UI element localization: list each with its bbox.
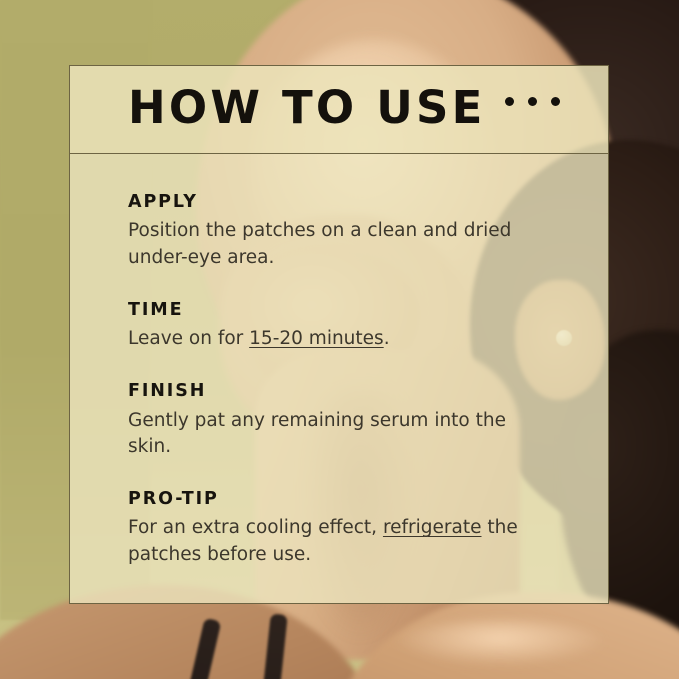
section-heading-finish: FINISH — [128, 382, 552, 401]
dot-3 — [551, 97, 560, 106]
page-title: HOW TO USE — [128, 85, 486, 130]
product-instructions-graphic: HOW TO USE APPLY Position the patches on… — [0, 0, 679, 679]
time-text-before: Leave on for — [128, 328, 249, 349]
section-heading-apply: APPLY — [128, 193, 552, 212]
time-emphasis: 15-20 minutes — [249, 328, 384, 349]
section-text-finish: Gently pat any remaining serum into the … — [128, 408, 552, 461]
time-text-after: . — [384, 328, 390, 349]
how-to-use-card: HOW TO USE APPLY Position the patches on… — [69, 65, 609, 604]
model-clavicle-highlight — [395, 620, 605, 666]
card-body: APPLY Position the patches on a clean an… — [70, 154, 608, 568]
section-finish: FINISH Gently pat any remaining serum in… — [128, 382, 552, 460]
pro-tip-text-before: For an extra cooling effect, — [128, 517, 383, 538]
pro-tip-emphasis: refrigerate — [383, 517, 482, 538]
dot-2 — [528, 97, 537, 106]
section-time: TIME Leave on for 15-20 minutes. — [128, 301, 552, 353]
finish-text: Gently pat any remaining serum into the … — [128, 410, 506, 457]
section-text-time: Leave on for 15-20 minutes. — [128, 326, 552, 352]
card-header: HOW TO USE — [70, 66, 608, 154]
section-text-apply: Position the patches on a clean and drie… — [128, 218, 552, 271]
section-pro-tip: PRO-TIP For an extra cooling effect, ref… — [128, 490, 552, 568]
section-text-pro-tip: For an extra cooling effect, refrigerate… — [128, 515, 552, 568]
three-dots-icon — [505, 97, 560, 106]
apply-text: Position the patches on a clean and drie… — [128, 220, 511, 267]
section-heading-time: TIME — [128, 301, 552, 320]
section-apply: APPLY Position the patches on a clean an… — [128, 193, 552, 271]
dot-1 — [505, 97, 514, 106]
section-heading-pro-tip: PRO-TIP — [128, 490, 552, 509]
